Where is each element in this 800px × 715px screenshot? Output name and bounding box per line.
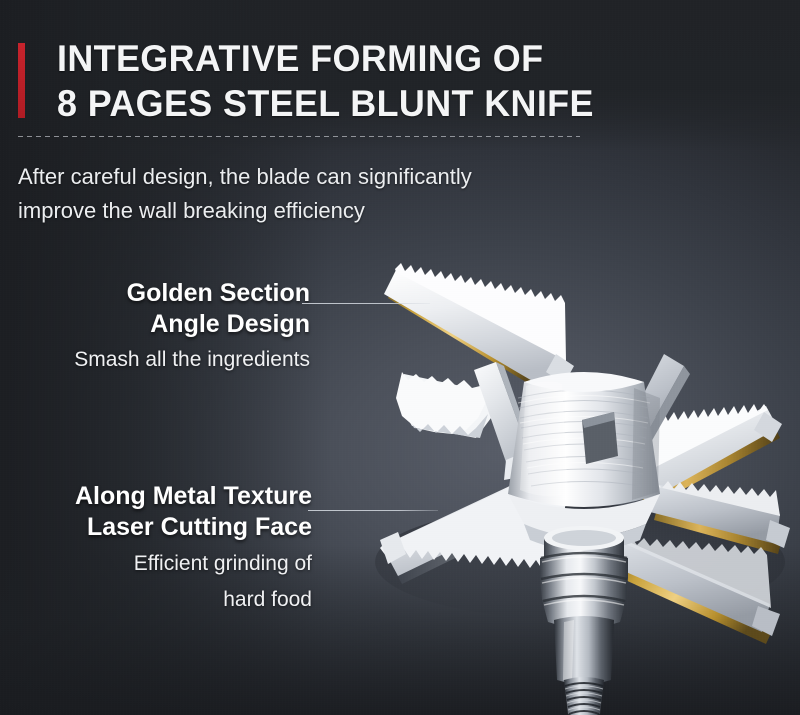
product-poster: INTEGRATIVE FORMING OF 8 PAGES STEEL BLU… bbox=[0, 0, 800, 715]
background-texture-overlay bbox=[0, 0, 800, 715]
